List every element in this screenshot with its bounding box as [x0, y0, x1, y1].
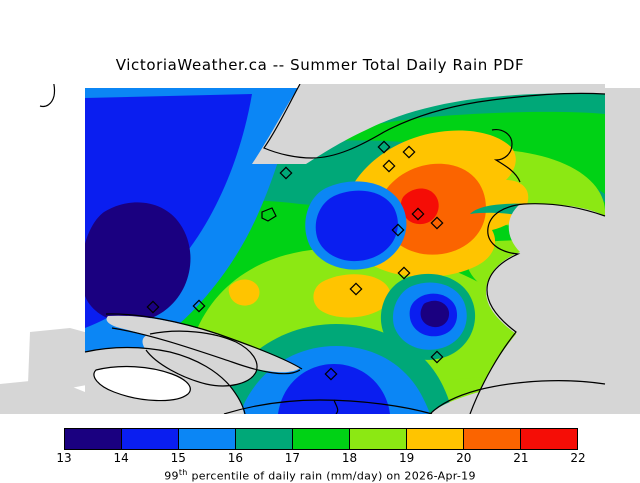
colorbar-band-16-17: [236, 429, 293, 449]
colorbar-tick-14: 14: [101, 451, 141, 465]
colorbar-tick-21: 21: [501, 451, 541, 465]
colorbar-bands: [64, 428, 578, 450]
weather-map-page: VictoriaWeather.ca -- Summer Total Daily…: [0, 0, 640, 480]
colorbar-legend: 13141516171819202122 99th percentile of …: [0, 424, 640, 480]
map-plot-area: [0, 84, 640, 414]
colorbar-tick-22: 22: [558, 451, 598, 465]
colorbar-tick-17: 17: [272, 451, 312, 465]
colorbar-tick-labels: 13141516171819202122: [0, 451, 640, 467]
colorbar-band-18-19: [350, 429, 407, 449]
colorbar-tick-20: 20: [444, 451, 484, 465]
colorbar-tick-13: 13: [44, 451, 84, 465]
colorbar-band-21-22: [521, 429, 577, 449]
colorbar-caption: 99th percentile of daily rain (mm/day) o…: [0, 468, 640, 483]
rain-contour-map: [0, 84, 640, 414]
colorbar-band-19-20: [407, 429, 464, 449]
page-title: VictoriaWeather.ca -- Summer Total Daily…: [0, 56, 640, 74]
colorbar-tick-16: 16: [215, 451, 255, 465]
colorbar-band-17-18: [293, 429, 350, 449]
colorbar-band-20-21: [464, 429, 521, 449]
colorbar-band-14-15: [122, 429, 179, 449]
colorbar-tick-15: 15: [158, 451, 198, 465]
caption-suffix: percentile of daily rain (mm/day) on 202…: [188, 470, 476, 483]
colorbar-tick-18: 18: [330, 451, 370, 465]
colorbar-band-13-14: [65, 429, 122, 449]
caption-prefix: 99: [164, 470, 179, 483]
caption-superscript: th: [179, 468, 188, 477]
colorbar-tick-19: 19: [387, 451, 427, 465]
colorbar-band-15-16: [179, 429, 236, 449]
